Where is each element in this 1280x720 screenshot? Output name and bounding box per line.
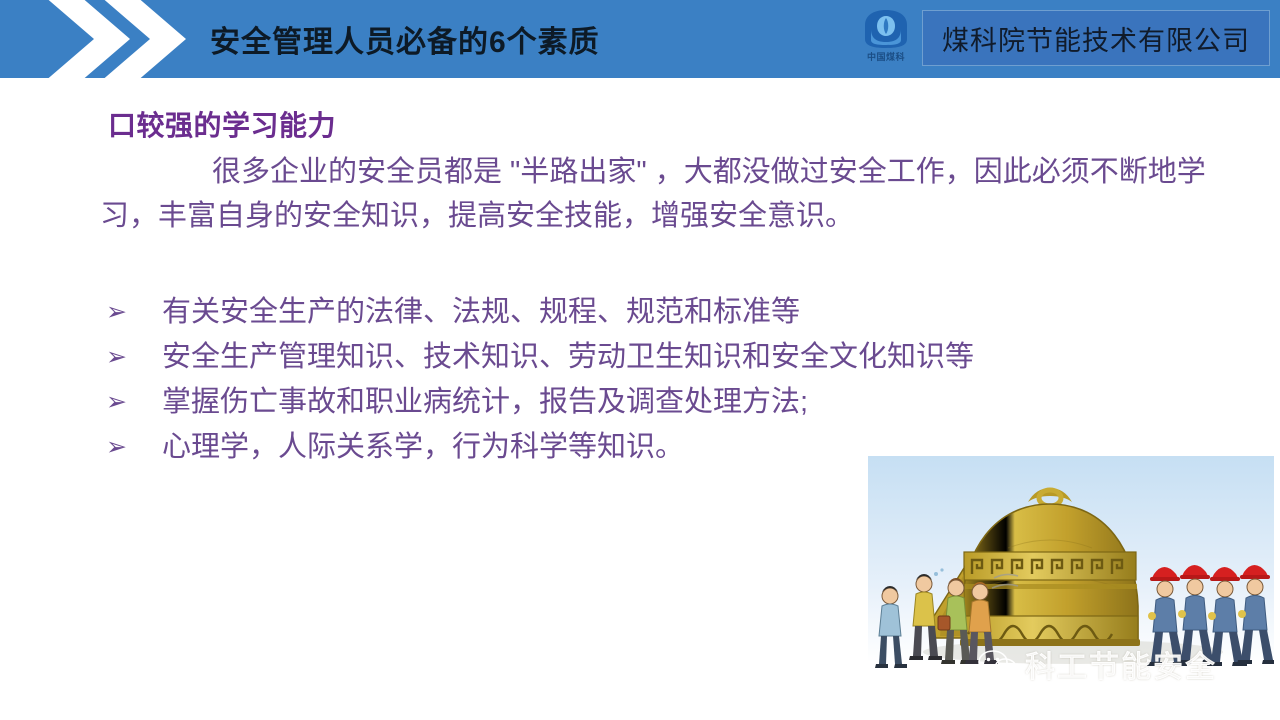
arrow-bullet-icon: ➢	[100, 290, 162, 335]
golden-bell-with-workers-cartoon: 科工节能安全	[868, 456, 1274, 714]
section-heading: 口较强的学习能力	[108, 104, 336, 144]
list-item-label: 有关安全生产的法律、法规、规程、规范和标准等	[162, 290, 800, 335]
arrow-bullet-icon: ➢	[100, 425, 162, 470]
list-item-label: 安全生产管理知识、技术知识、劳动卫生知识和安全文化知识等	[162, 335, 974, 380]
double-chevron-right-icon	[44, 0, 204, 78]
slide-header: 安全管理人员必备的6个素质 中国煤科 煤科院节能技术有限公司	[0, 0, 1280, 78]
coal-group-emblem-icon	[855, 9, 917, 49]
arrow-bullet-icon: ➢	[100, 335, 162, 380]
slide-body: 口较强的学习能力 很多企业的安全员都是 "半路出家" ，大都没做过安全工作，因此…	[0, 78, 1280, 720]
logo-caption: 中国煤科	[855, 50, 917, 63]
arrow-bullet-icon: ➢	[100, 380, 162, 425]
page-title: 安全管理人员必备的6个素质	[210, 17, 600, 61]
company-name-label: 煤科院节能技术有限公司	[942, 19, 1250, 58]
company-name-box: 煤科院节能技术有限公司	[922, 10, 1270, 66]
list-item-label: 心理学，人际关系学，行为科学等知识。	[162, 425, 684, 470]
list-item: ➢ 掌握伤亡事故和职业病统计，报告及调查处理方法;	[100, 380, 1260, 425]
list-item: ➢ 安全生产管理知识、技术知识、劳动卫生知识和安全文化知识等	[100, 335, 1260, 380]
list-item: ➢ 有关安全生产的法律、法规、规程、规范和标准等	[100, 290, 1260, 335]
body-paragraph: 很多企业的安全员都是 "半路出家" ，大都没做过安全工作，因此必须不断地学习，丰…	[100, 150, 1230, 238]
bullet-list: ➢ 有关安全生产的法律、法规、规程、规范和标准等 ➢ 安全生产管理知识、技术知识…	[100, 290, 1260, 470]
list-item-label: 掌握伤亡事故和职业病统计，报告及调查处理方法;	[162, 380, 808, 425]
company-logo: 中国煤科	[855, 9, 917, 69]
